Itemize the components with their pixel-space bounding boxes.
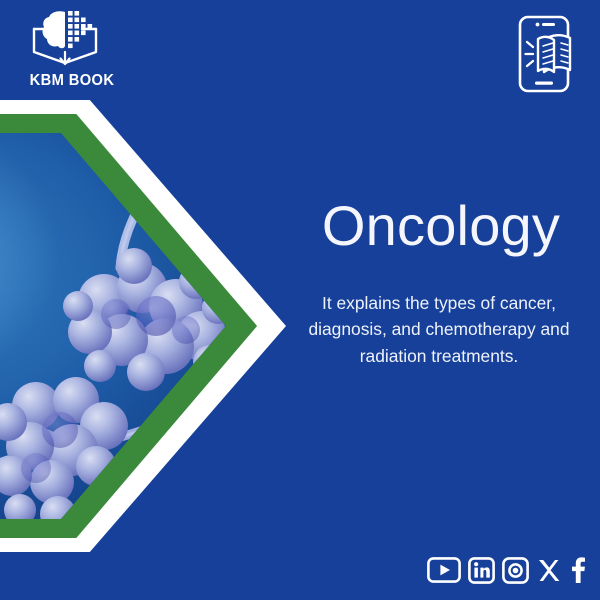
hexagon-image-frame <box>0 100 286 552</box>
poster-canvas: KBM BOOK <box>0 0 600 600</box>
linkedin-icon[interactable] <box>468 557 495 584</box>
phone-ebook-icon[interactable] <box>506 14 582 94</box>
page-title: Oncology <box>296 197 586 256</box>
instagram-icon[interactable] <box>502 557 529 584</box>
facebook-icon[interactable] <box>569 556 586 584</box>
social-links <box>427 554 586 586</box>
brand-name-label: KBM BOOK <box>17 72 127 90</box>
youtube-icon[interactable] <box>427 557 461 583</box>
page-description: It explains the types of cancer, diagnos… <box>288 290 590 369</box>
brand-logo[interactable]: KBM BOOK <box>12 8 132 100</box>
brain-book-logo-icon <box>26 8 104 70</box>
x-twitter-icon[interactable] <box>536 557 562 584</box>
